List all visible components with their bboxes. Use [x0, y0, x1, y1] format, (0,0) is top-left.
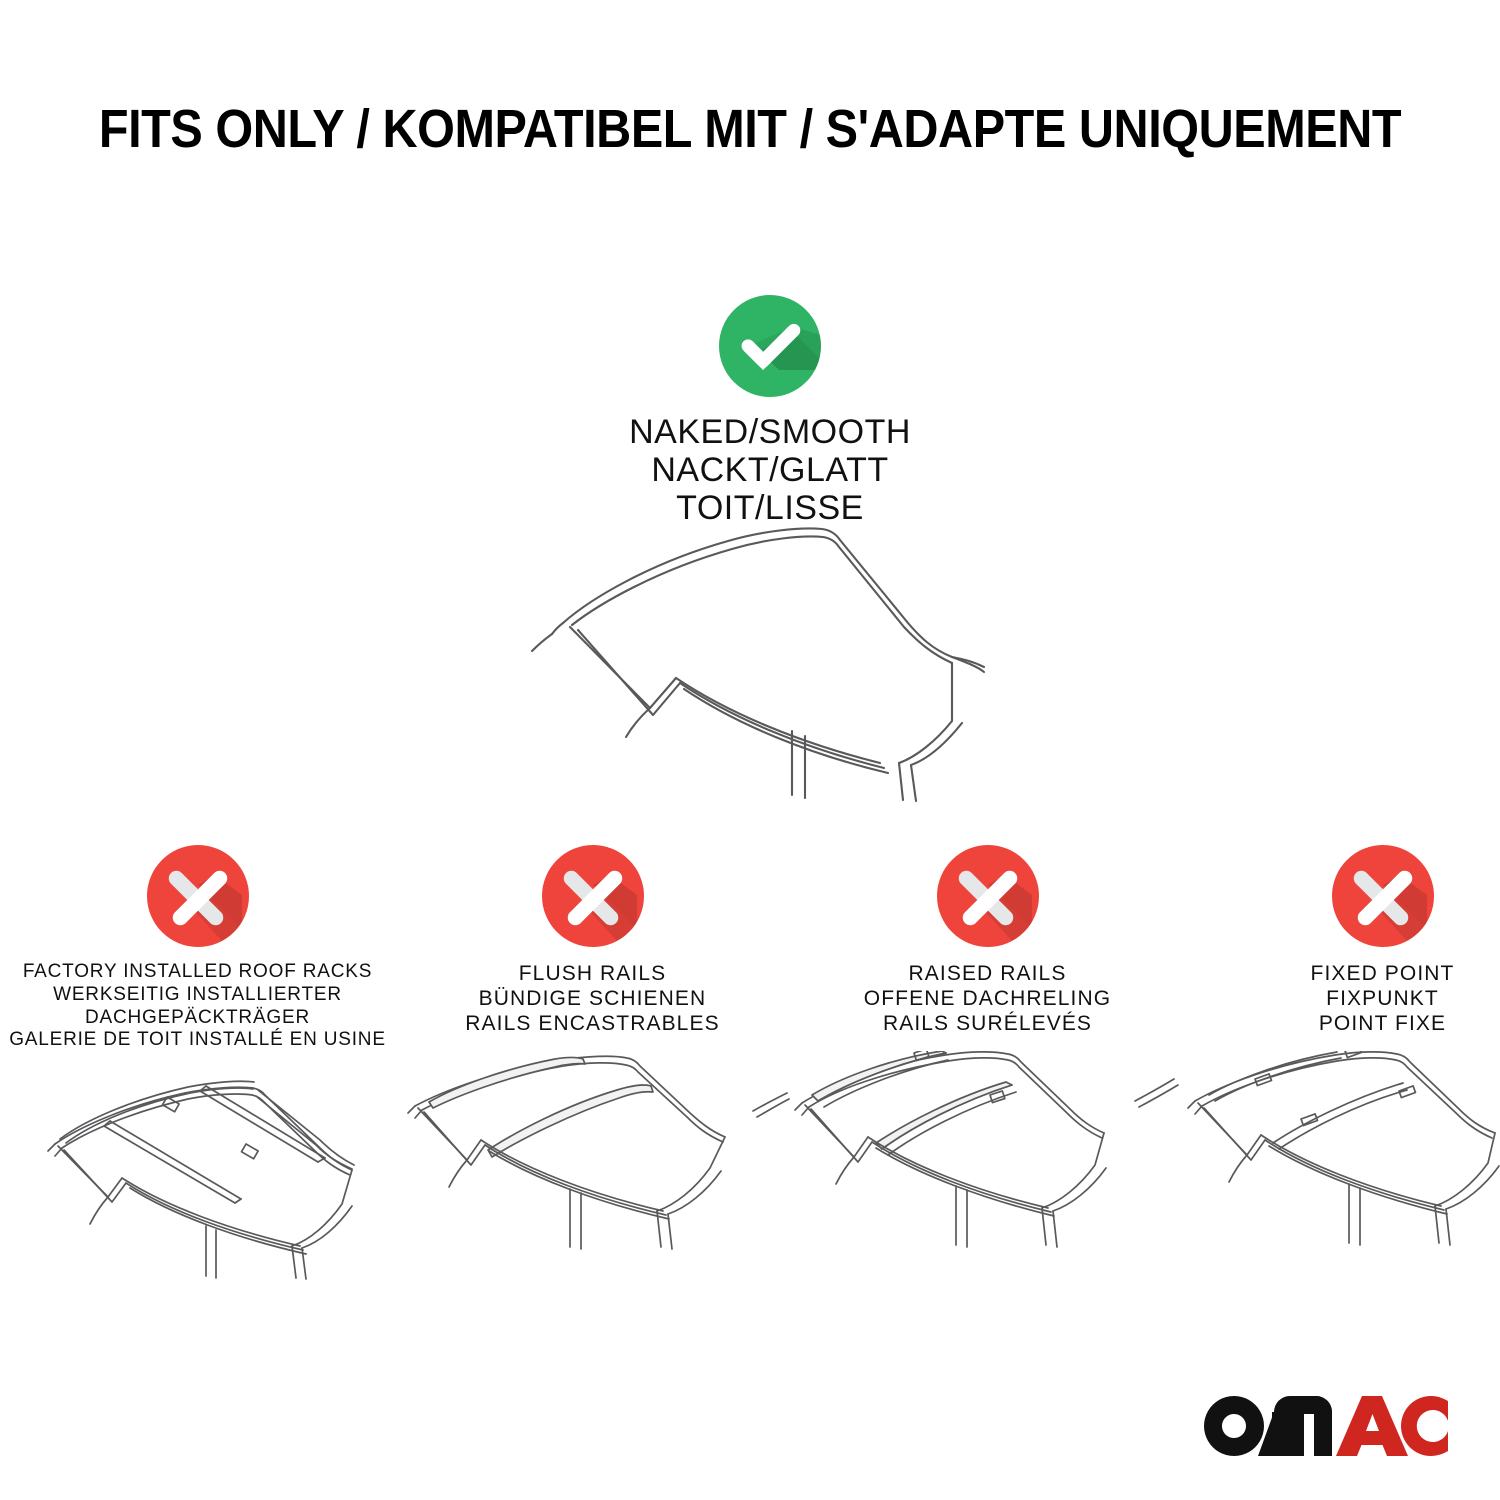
label-line-1: RAISED RAILS: [864, 961, 1111, 986]
compatible-label-line-1: NAKED/SMOOTH: [470, 413, 1070, 451]
car-roof-naked-smooth-illustration: [500, 515, 1000, 805]
omac-logo: OMAC: [1198, 1390, 1448, 1462]
label-flush-rails: FLUSH RAILS BÜNDIGE SCHIENEN RAILS ENCAS…: [465, 961, 719, 1037]
incompatible-column-factory-roof-racks: FACTORY INSTALLED ROOF RACKS WERKSEITIG …: [0, 845, 395, 1281]
compatible-badge-wrap: [470, 295, 1070, 397]
label-line-2: OFFENE DACHRELING: [864, 986, 1111, 1011]
compatible-label-line-2: NACKT/GLATT: [470, 451, 1070, 489]
label-line-1: FACTORY INSTALLED ROOF RACKS: [9, 961, 386, 984]
green-check-circle-icon: [719, 295, 821, 397]
label-line-3: DACHGEPÄCKTRÄGER: [9, 1007, 386, 1030]
label-line-2: WERKSEITIG INSTALLIERTER: [9, 984, 386, 1007]
label-fixed-point: FIXED POINT FIXPUNKT POINT FIXE: [1311, 961, 1455, 1037]
label-raised-rails: RAISED RAILS OFFENE DACHRELING RAILS SUR…: [864, 961, 1111, 1037]
incompatible-column-raised-rails: RAISED RAILS OFFENE DACHRELING RAILS SUR…: [790, 845, 1185, 1281]
incompatible-column-flush-rails: FLUSH RAILS BÜNDIGE SCHIENEN RAILS ENCAS…: [395, 845, 790, 1281]
red-cross-circle-icon: [542, 845, 644, 947]
red-cross-circle-icon: [1332, 845, 1434, 947]
page-title: FITS ONLY / KOMPATIBEL MIT / S'ADAPTE UN…: [75, 98, 1425, 160]
car-roof-factory-roof-racks-illustration: [0, 1066, 395, 1281]
incompatible-column-fixed-point: FIXED POINT FIXPUNKT POINT FIXE: [1185, 845, 1500, 1281]
red-cross-circle-icon: [147, 845, 249, 947]
compatible-section: NAKED/SMOOTH NACKT/GLATT TOIT/LISSE: [470, 295, 1070, 527]
car-roof-raised-rails-illustration: [790, 1051, 1185, 1266]
label-line-3: POINT FIXE: [1311, 1011, 1455, 1036]
car-roof-flush-rails-illustration: [395, 1051, 790, 1266]
label-line-2: FIXPUNKT: [1311, 986, 1455, 1011]
car-roof-fixed-point-illustration: [1185, 1051, 1500, 1266]
label-line-2: BÜNDIGE SCHIENEN: [465, 986, 719, 1011]
label-line-4: GALERIE DE TOIT INSTALLÉ EN USINE: [9, 1029, 386, 1052]
label-line-3: RAILS SURÉLEVÉS: [864, 1011, 1111, 1036]
label-line-1: FIXED POINT: [1311, 961, 1455, 986]
incompatible-columns: FACTORY INSTALLED ROOF RACKS WERKSEITIG …: [0, 845, 1500, 1281]
label-factory-roof-racks: FACTORY INSTALLED ROOF RACKS WERKSEITIG …: [9, 961, 386, 1052]
compatible-labels: NAKED/SMOOTH NACKT/GLATT TOIT/LISSE: [470, 413, 1070, 527]
label-line-3: RAILS ENCASTRABLES: [465, 1011, 719, 1036]
red-cross-circle-icon: [937, 845, 1039, 947]
label-line-1: FLUSH RAILS: [465, 961, 719, 986]
